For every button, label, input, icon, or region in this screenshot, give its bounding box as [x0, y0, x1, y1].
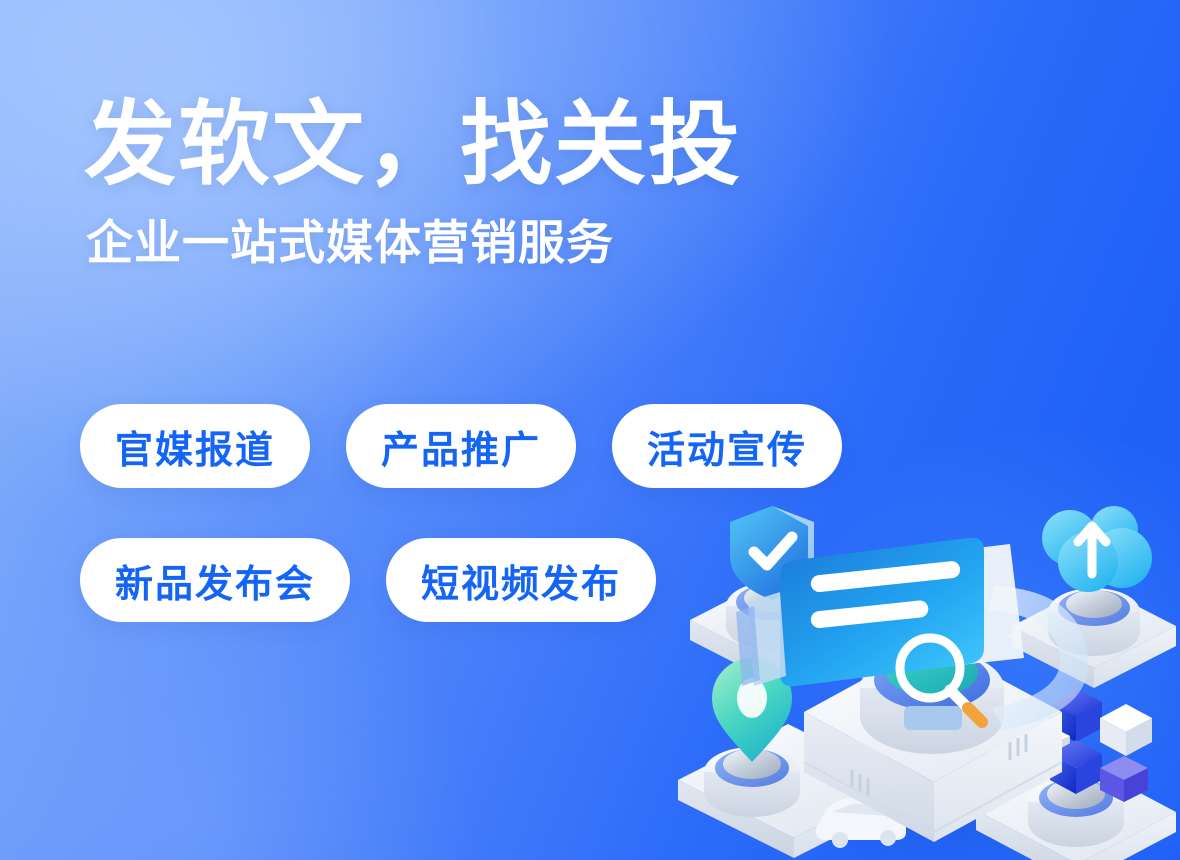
tag-label: 新品发布会: [115, 553, 315, 608]
service-tag-list: 官媒报道 产品推广 活动宣传 新品发布会 短视频发布: [80, 404, 880, 622]
tag-row-1: 官媒报道 产品推广 活动宣传: [80, 404, 880, 488]
tag-official-media-coverage[interactable]: 官媒报道: [80, 404, 310, 488]
banner-copy: 发软文，找关投 企业一站式媒体营销服务: [84, 96, 742, 269]
tag-product-promotion[interactable]: 产品推广: [346, 404, 576, 488]
banner-subheadline: 企业一站式媒体营销服务: [86, 217, 742, 269]
banner-headline: 发软文，找关投: [84, 96, 742, 195]
tag-label: 活动宣传: [647, 419, 807, 474]
tag-event-publicity[interactable]: 活动宣传: [612, 404, 842, 488]
tag-new-product-launch[interactable]: 新品发布会: [80, 538, 350, 622]
tag-short-video-release[interactable]: 短视频发布: [386, 538, 656, 622]
tag-row-2: 新品发布会 短视频发布: [80, 538, 880, 622]
cloud-upload-icon: [1042, 506, 1152, 592]
marketing-banner: 发软文，找关投 企业一站式媒体营销服务 官媒报道 产品推广 活动宣传 新品发布会…: [0, 0, 1180, 860]
tag-label: 短视频发布: [421, 553, 621, 608]
tag-label: 官媒报道: [115, 419, 275, 474]
tag-label: 产品推广: [381, 419, 541, 474]
